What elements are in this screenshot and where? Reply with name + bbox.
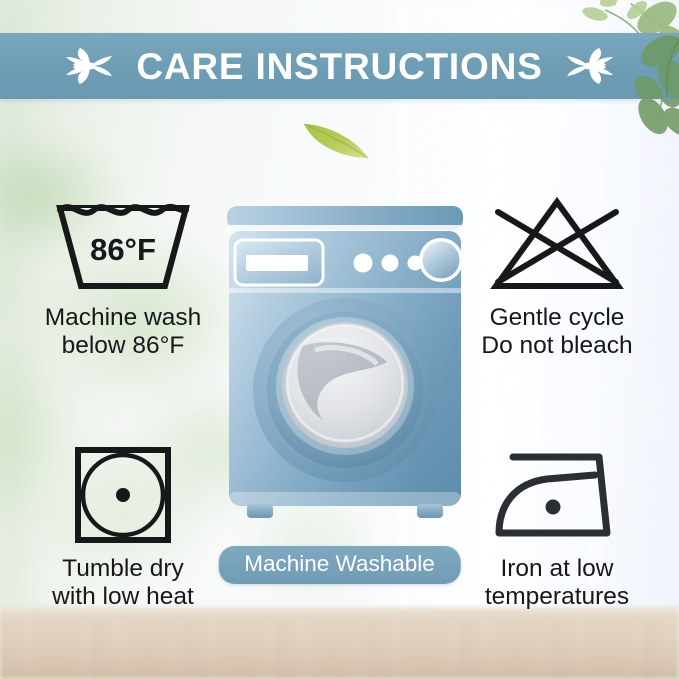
care-caption: Tumble dry with low heat bbox=[52, 555, 194, 611]
wash-tub-icon: 86°F bbox=[52, 192, 194, 296]
iron-low-temperature-icon bbox=[489, 443, 625, 547]
care-item-machine-wash: 86°F Machine wash below 86°F bbox=[18, 192, 228, 360]
page-title: CARE INSTRUCTIONS bbox=[136, 48, 542, 85]
care-item-do-not-bleach: Gentle cycle Do not bleach bbox=[452, 192, 662, 360]
care-caption: Gentle cycle Do not bleach bbox=[481, 304, 632, 360]
machine-door bbox=[253, 298, 437, 482]
machine-feet bbox=[247, 504, 443, 518]
care-instructions-infographic: CARE INSTRUCTIONS bbox=[0, 0, 679, 679]
care-caption: Machine wash below 86°F bbox=[45, 304, 202, 360]
fleur-de-lis-icon bbox=[60, 44, 118, 88]
washing-machine-illustration bbox=[219, 204, 471, 537]
leaf-icon bbox=[296, 116, 374, 162]
fleur-de-lis-icon bbox=[561, 44, 619, 88]
care-item-tumble-dry: Tumble dry with low heat bbox=[18, 443, 228, 611]
header-banner: CARE INSTRUCTIONS bbox=[0, 33, 679, 99]
care-item-iron: Iron at low temperatures bbox=[452, 443, 662, 611]
detergent-drawer bbox=[235, 240, 323, 285]
wash-temperature-value: 86°F bbox=[90, 232, 156, 267]
care-caption: Iron at low temperatures bbox=[485, 555, 629, 611]
tumble-dry-low-icon bbox=[70, 443, 176, 547]
machine-washable-badge: Machine Washable bbox=[218, 546, 461, 584]
table-wood-grain bbox=[0, 621, 679, 679]
do-not-bleach-triangle-icon bbox=[486, 192, 628, 296]
control-buttons bbox=[354, 254, 423, 273]
